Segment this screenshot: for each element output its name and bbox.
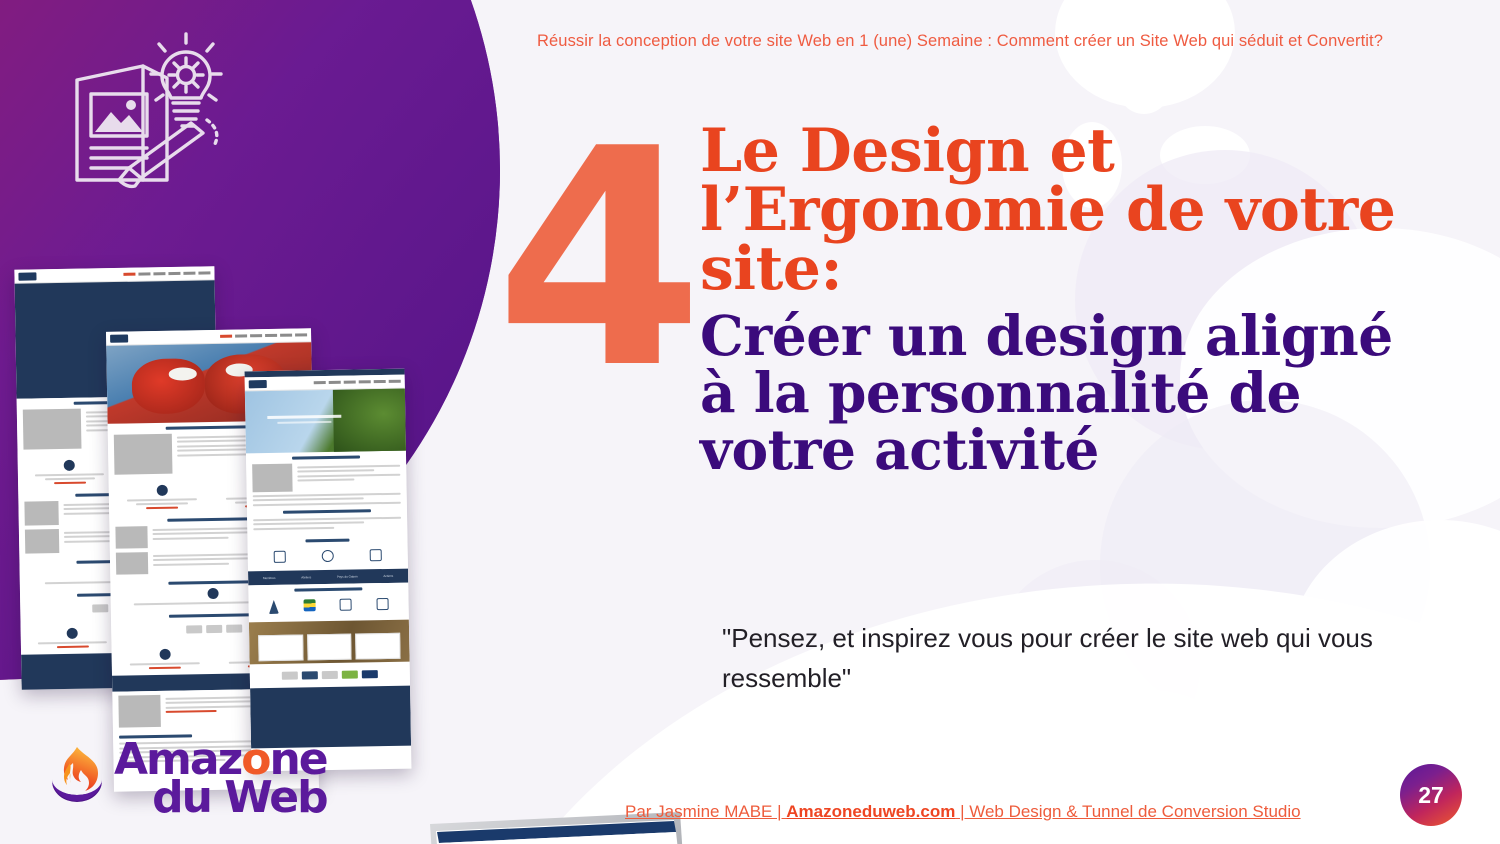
- mockup-logo: [18, 272, 36, 280]
- mockup-section-whygabon: [248, 583, 409, 623]
- stat-item: Actions: [383, 574, 393, 578]
- footer-brand-link[interactable]: Amazoneduweb.com: [786, 802, 955, 821]
- mockup-section-logos: [250, 662, 410, 689]
- mockup-nav-items: [220, 334, 307, 338]
- logo-text-line2: du Web: [114, 780, 327, 816]
- design-creativity-icon: [55, 28, 255, 193]
- slide-root: Réussir la conception de votre site Web …: [0, 0, 1500, 844]
- page-title-secondary: Créer un design aligné à la personnalité…: [700, 308, 1430, 478]
- footer-author: Par Jasmine MABE |: [625, 802, 786, 821]
- mockup-cards-band: [249, 620, 410, 665]
- stat-item: Membres: [263, 576, 276, 580]
- mockup-hero-palm-photo: [245, 389, 406, 454]
- stat-item: Pays du Gabon: [337, 574, 358, 578]
- stat-item: Ateliers: [301, 575, 311, 579]
- page-number-badge: 27: [1400, 764, 1462, 826]
- mockup-logo: [110, 334, 128, 342]
- title-block: Le Design et l’Ergonomie de votre site: …: [700, 122, 1430, 478]
- mockup-nav-items: [123, 272, 210, 276]
- footer-tagline: | Web Design & Tunnel de Conversion Stud…: [955, 802, 1300, 821]
- footer-credit[interactable]: Par Jasmine MABE | Amazoneduweb.com | We…: [625, 802, 1301, 822]
- brand-logo: Amazone du Web: [48, 742, 327, 816]
- quote-text: "Pensez, et inspirez vous pour créer le …: [722, 618, 1382, 699]
- page-title-primary: Le Design et l’Ergonomie de votre site:: [700, 122, 1430, 298]
- mockup-section-join: [247, 534, 408, 572]
- section-number: 4: [495, 110, 698, 410]
- flame-icon: [48, 745, 106, 813]
- page-subtitle: Réussir la conception de votre site Web …: [490, 32, 1430, 51]
- mockup-section-intro: [246, 451, 407, 537]
- mockup-nav-items: [314, 380, 401, 384]
- website-mockup-palm: Membres Ateliers Pays du Gabon Actions: [245, 369, 412, 772]
- mockup-logo: [249, 380, 267, 388]
